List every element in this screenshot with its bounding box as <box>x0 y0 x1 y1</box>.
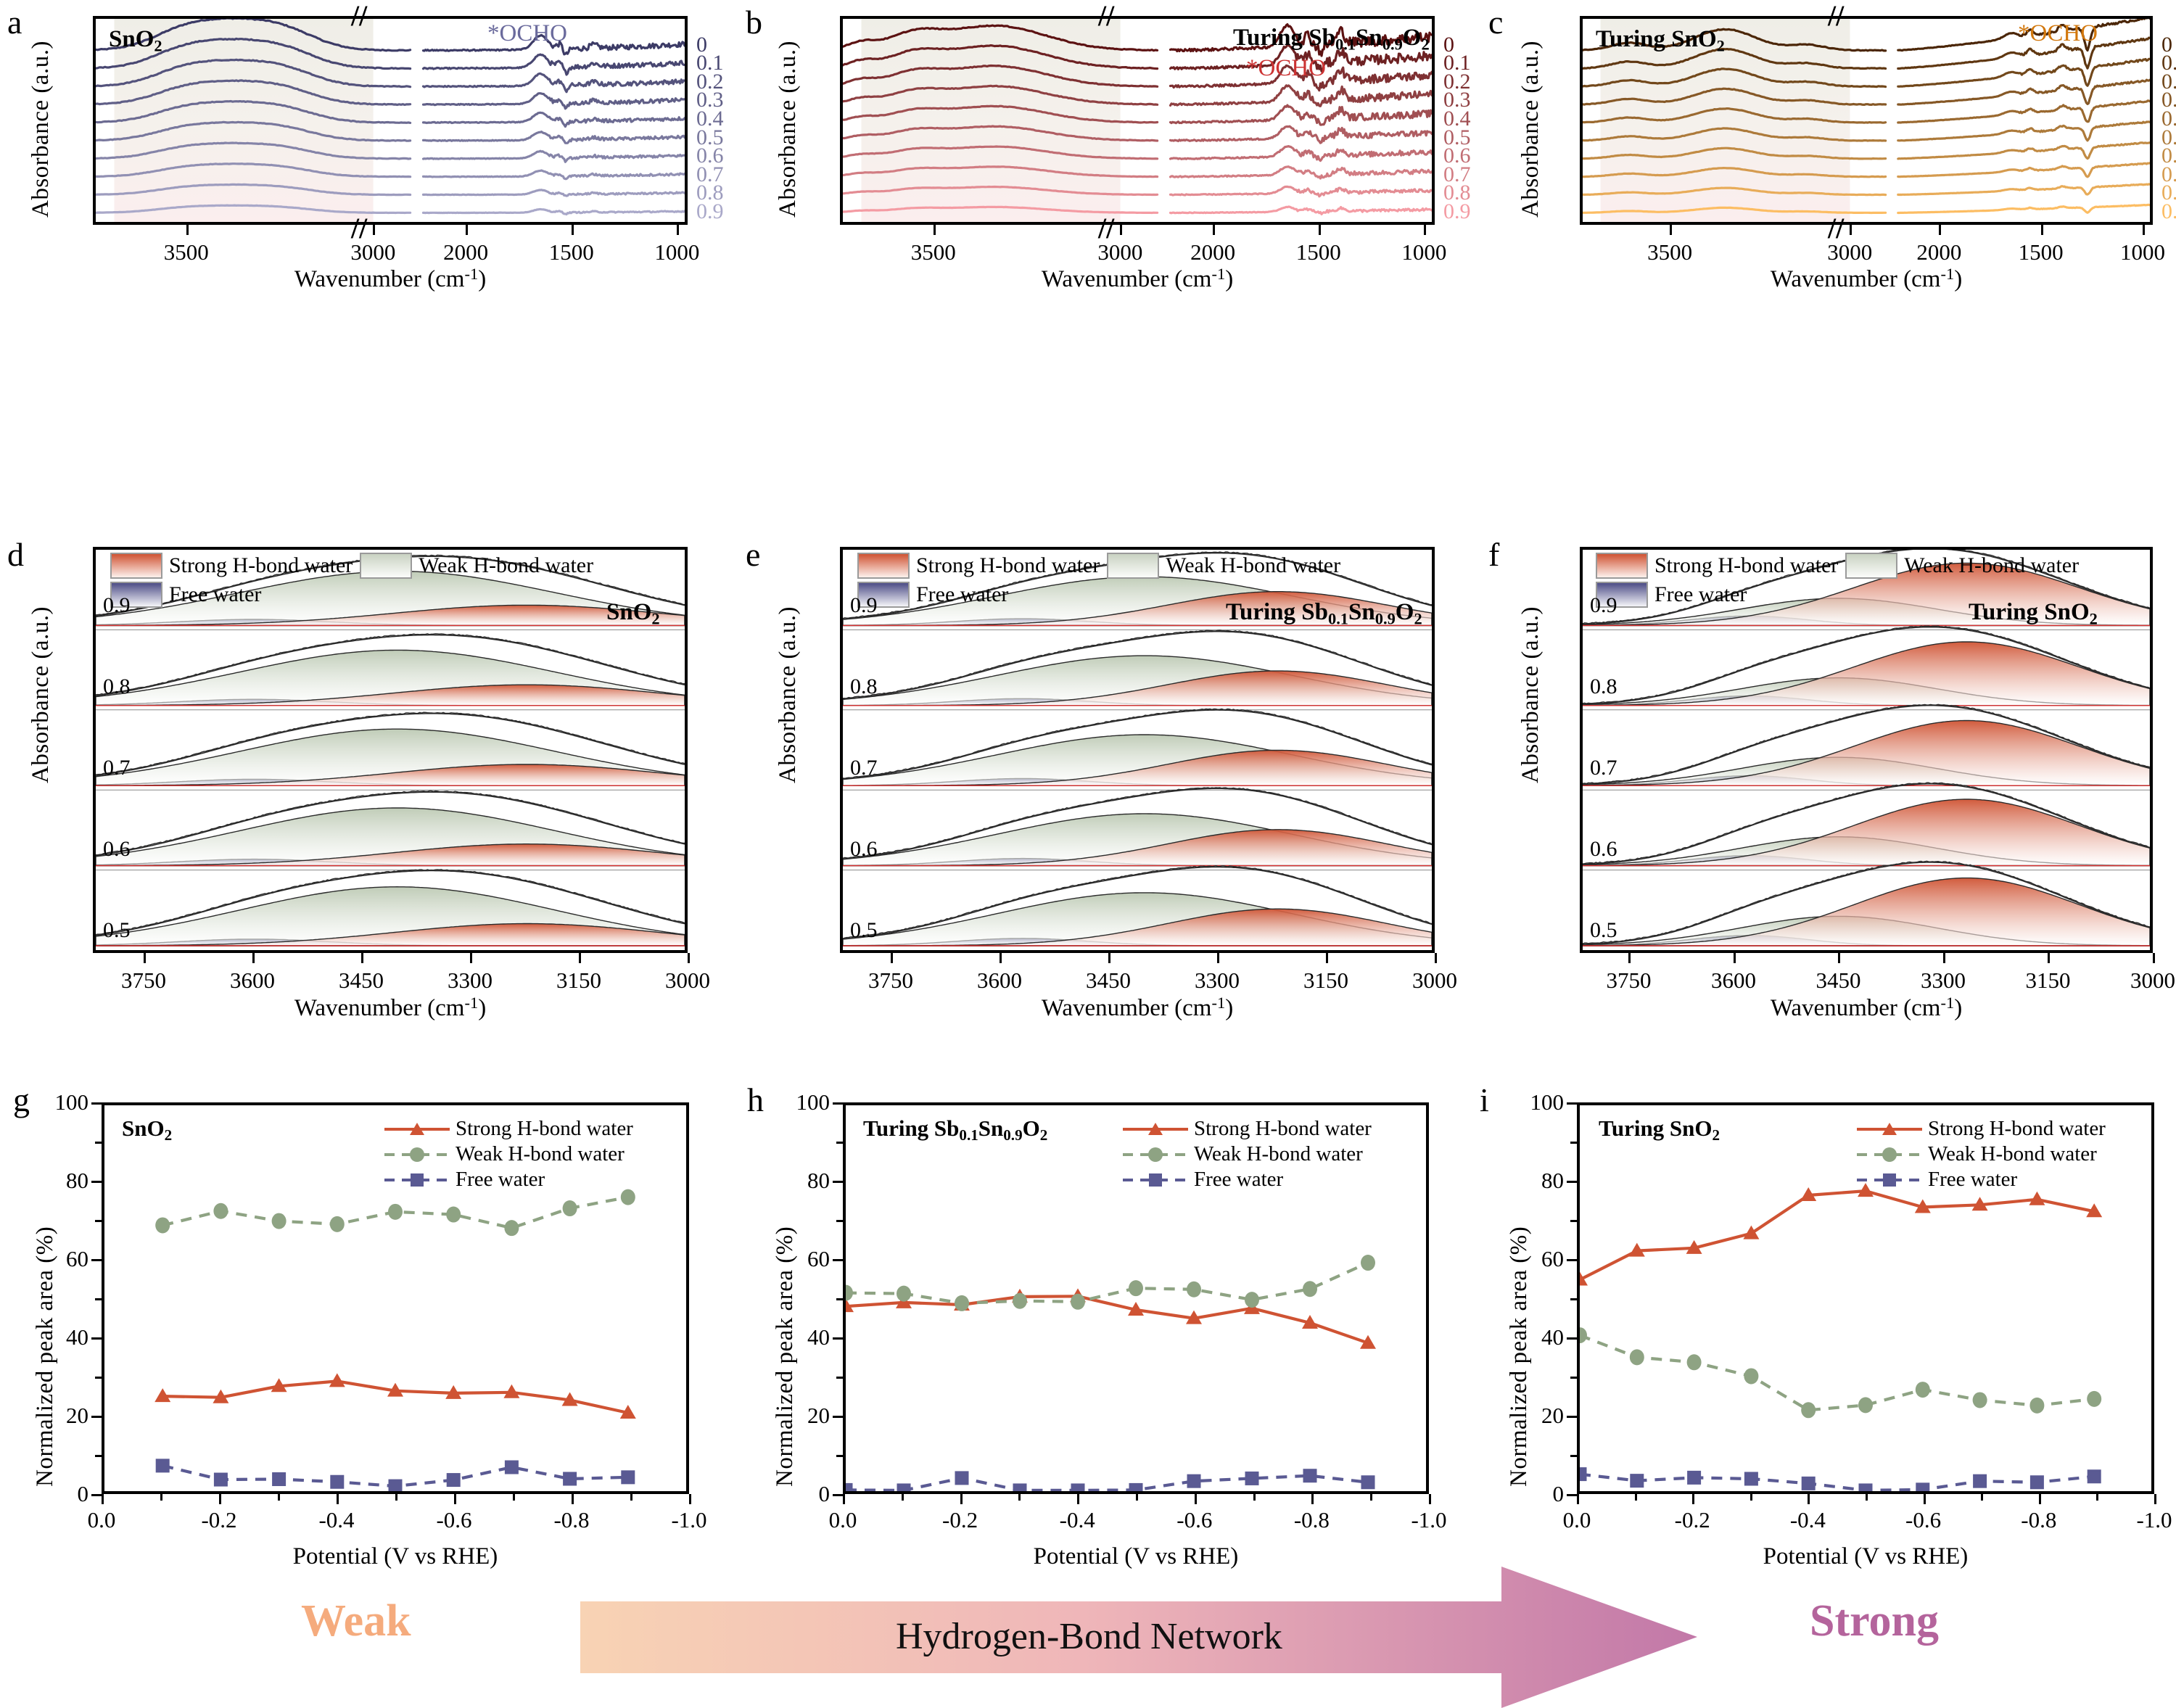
x-tick-mark <box>960 1494 963 1504</box>
x-minor-tick <box>160 1494 162 1501</box>
x-tick-mark <box>186 225 189 235</box>
y-minor-tick <box>95 1142 102 1144</box>
y-tick-mark <box>91 1416 102 1418</box>
stack-label: 0.8 <box>1590 674 1617 699</box>
y-tick-mark <box>1567 1337 1577 1340</box>
y-minor-tick <box>836 1455 843 1457</box>
legend-label-weak: Weak H-bond water <box>419 553 593 578</box>
legend-row-weak-h: Weak H-bond water <box>1123 1142 1372 1166</box>
x-tick-mark <box>1808 1494 1810 1504</box>
square-marker-icon <box>1880 1171 1899 1189</box>
panel-h-legend: Strong H-bond water Weak H-bond water Fr… <box>1123 1117 1372 1192</box>
y-tick-label: 0 <box>33 1481 88 1507</box>
panel-d-sample-title: SnO2 <box>606 599 660 628</box>
x-tick-label: 0.0 <box>88 1507 116 1533</box>
panel-b-sample-title: Turing Sb0.1Sn0.9O2 <box>1233 25 1430 54</box>
y-tick-label: 40 <box>775 1324 830 1350</box>
legend-row-strong-h: Strong H-bond water <box>1123 1117 1372 1141</box>
panel-g-legend: Strong H-bond water Weak H-bond water Fr… <box>384 1117 633 1192</box>
y-minor-tick <box>1570 1220 1577 1222</box>
x-tick-mark <box>891 953 893 963</box>
y-tick-label: 60 <box>1509 1246 1564 1272</box>
legend-row-free-h: Free water <box>1123 1168 1372 1192</box>
y-minor-tick <box>836 1298 843 1300</box>
x-tick-label: 3600 <box>230 968 275 994</box>
y-tick-label: 80 <box>775 1168 830 1194</box>
y-minor-tick <box>1570 1142 1577 1144</box>
y-minor-tick <box>836 1220 843 1222</box>
triangle-marker-icon <box>1146 1120 1165 1139</box>
legend-label-strong: Strong H-bond water <box>1928 1117 2106 1141</box>
panel-letter-g: g <box>13 1081 30 1119</box>
panel-f-sample-title: Turing SnO2 <box>1969 599 2098 628</box>
legend-label-free: Free water <box>916 582 1008 607</box>
y-tick-label: 40 <box>1509 1324 1564 1350</box>
panel-c-axis-break-bottom: // <box>1828 214 1844 243</box>
y-tick-mark <box>833 1494 843 1496</box>
figure-root: a Absorbance (a.u.) SnO2 *OCHO // // 350… <box>0 0 2176 1708</box>
x-tick-label: 3750 <box>868 968 913 994</box>
stack-label: 0.9 <box>103 593 131 618</box>
banner-center-label: Hydrogen-Bond Network <box>896 1615 1282 1658</box>
x-tick-mark <box>1429 1494 1431 1504</box>
x-tick-mark <box>572 1494 574 1504</box>
y-tick-label: 20 <box>775 1403 830 1429</box>
panel-f-xlabel: Wavenumber (cm-1) <box>1580 994 2153 1022</box>
legend-item-strong-e: Strong H-bond water <box>857 553 1100 579</box>
x-tick-label: -0.4 <box>318 1507 354 1533</box>
panel-letter-f: f <box>1488 535 1499 574</box>
x-tick-mark <box>337 1494 339 1504</box>
panel-letter-a: a <box>7 3 22 41</box>
weak-water-swatch <box>1107 553 1159 579</box>
legend-row-strong-g: Strong H-bond water <box>384 1117 633 1141</box>
stack-label: 0.7 <box>103 756 131 780</box>
x-tick-label: 3000 <box>350 239 395 265</box>
panel-e-sample-title: Turing Sb0.1Sn0.9O2 <box>1226 599 1422 628</box>
y-tick-mark <box>91 1337 102 1340</box>
x-tick-label: 0.0 <box>1563 1507 1591 1533</box>
x-tick-mark <box>102 1494 104 1504</box>
x-tick-mark <box>1311 1494 1314 1504</box>
x-tick-mark <box>1577 1494 1579 1504</box>
y-tick-label: 60 <box>33 1246 88 1272</box>
x-minor-tick <box>1253 1494 1256 1501</box>
x-minor-tick <box>1866 1494 1868 1501</box>
y-tick-mark <box>833 1102 843 1105</box>
legend-item-free-e: Free water <box>857 582 1008 608</box>
legend-label-weak: Weak H-bond water <box>456 1142 625 1166</box>
x-tick-label: 1000 <box>2120 239 2165 265</box>
panel-i-sample-title: Turing SnO2 <box>1599 1115 1720 1144</box>
x-tick-mark <box>1108 953 1110 963</box>
x-tick-label: -0.2 <box>1675 1507 1710 1533</box>
panel-letter-h: h <box>747 1081 764 1119</box>
x-tick-mark <box>1838 953 1840 963</box>
x-tick-label: -0.2 <box>942 1507 978 1533</box>
x-tick-label: 3300 <box>448 968 493 994</box>
panel-a-sample-title: SnO2 <box>109 26 162 55</box>
x-tick-label: 3500 <box>911 239 956 265</box>
x-minor-tick <box>278 1494 280 1501</box>
x-tick-mark <box>572 225 574 235</box>
panel-a-plot-area <box>93 16 688 225</box>
trace-label: 0.9 <box>1443 199 1471 224</box>
x-tick-mark <box>579 953 581 963</box>
x-tick-label: 3000 <box>1097 239 1142 265</box>
panel-e-ylabel: Absorbance (a.u.) <box>775 606 801 783</box>
x-tick-mark <box>466 225 468 235</box>
x-tick-label: 3600 <box>977 968 1022 994</box>
x-tick-mark <box>1213 225 1215 235</box>
panel-letter-i: i <box>1480 1081 1489 1119</box>
x-tick-label: 3500 <box>1647 239 1692 265</box>
x-minor-tick <box>1018 1494 1021 1501</box>
x-tick-label: -1.0 <box>1411 1507 1446 1533</box>
x-tick-mark <box>1628 953 1631 963</box>
panel-d-deconvolution <box>96 550 685 950</box>
x-tick-label: 3000 <box>665 968 710 994</box>
panel-letter-d: d <box>7 535 24 574</box>
y-minor-tick <box>95 1455 102 1457</box>
y-tick-label: 80 <box>1509 1168 1564 1194</box>
panel-c-xlabel: Wavenumber (cm-1) <box>1580 265 2153 293</box>
legend-row-free-g: Free water <box>384 1168 633 1192</box>
x-tick-label: 3300 <box>1921 968 1966 994</box>
panel-g-sample-title: SnO2 <box>122 1115 172 1144</box>
x-tick-label: -0.6 <box>436 1507 471 1533</box>
x-tick-label: -0.6 <box>1905 1507 1941 1533</box>
x-tick-label: 3150 <box>2025 968 2070 994</box>
panel-e-xlabel: Wavenumber (cm-1) <box>840 994 1435 1022</box>
x-tick-label: -0.8 <box>2021 1507 2056 1533</box>
x-tick-label: -1.0 <box>671 1507 706 1533</box>
panel-a-spectra <box>96 19 685 222</box>
stack-label: 0.6 <box>850 837 878 862</box>
y-tick-mark <box>833 1259 843 1261</box>
y-tick-label: 20 <box>33 1403 88 1429</box>
x-minor-tick <box>1136 1494 1138 1501</box>
square-marker-icon <box>1146 1171 1165 1189</box>
x-tick-label: 2000 <box>443 239 488 265</box>
x-tick-mark <box>1000 953 1002 963</box>
x-tick-label: 3750 <box>1606 968 1651 994</box>
panel-d-plot-area <box>93 547 688 953</box>
banner-weak-label: Weak <box>301 1596 411 1647</box>
panel-a-axis-break-top: // <box>351 1 367 30</box>
weak-water-swatch <box>1845 553 1897 579</box>
y-tick-mark <box>1567 1259 1577 1261</box>
x-tick-label: -0.8 <box>1294 1507 1330 1533</box>
panel-i-legend: Strong H-bond water Weak H-bond water Fr… <box>1857 1117 2106 1192</box>
x-minor-tick <box>1370 1494 1372 1501</box>
circle-marker-icon <box>408 1145 426 1164</box>
x-tick-mark <box>1850 225 1852 235</box>
y-minor-tick <box>1570 1298 1577 1300</box>
x-tick-mark <box>361 953 363 963</box>
x-tick-label: 1500 <box>549 239 594 265</box>
legend-label-free: Free water <box>456 1168 545 1192</box>
x-minor-tick <box>395 1494 397 1501</box>
stack-label: 0.5 <box>850 918 878 943</box>
x-tick-label: 3150 <box>1303 968 1348 994</box>
panel-c-axis-break-top: // <box>1828 1 1844 30</box>
legend-label-strong: Strong H-bond water <box>916 553 1100 578</box>
legend-label-weak: Weak H-bond water <box>1904 553 2079 578</box>
x-tick-mark <box>470 953 472 963</box>
y-minor-tick <box>95 1220 102 1222</box>
x-tick-mark <box>1195 1494 1197 1504</box>
x-minor-tick <box>1981 1494 1983 1501</box>
y-tick-mark <box>833 1181 843 1183</box>
x-tick-label: 3750 <box>121 968 166 994</box>
x-tick-mark <box>2154 1494 2156 1504</box>
legend-item-weak-f: Weak H-bond water <box>1845 553 2079 579</box>
panel-b-ylabel: Absorbance (a.u.) <box>775 41 801 218</box>
x-tick-label: -0.4 <box>1790 1507 1826 1533</box>
stack-label: 0.5 <box>1590 918 1617 943</box>
x-tick-mark <box>677 225 679 235</box>
triangle-marker-icon <box>1880 1120 1899 1139</box>
legend-row-weak-g: Weak H-bond water <box>384 1142 633 1166</box>
x-tick-mark <box>2153 953 2155 963</box>
legend-item-strong-d: Strong H-bond water <box>110 553 353 579</box>
y-tick-mark <box>1567 1181 1577 1183</box>
x-tick-mark <box>373 225 375 235</box>
banner-strong-label: Strong <box>1810 1596 1939 1647</box>
panel-b-axis-break-bottom: // <box>1098 214 1114 243</box>
y-tick-mark <box>1567 1416 1577 1418</box>
y-minor-tick <box>1570 1377 1577 1379</box>
x-tick-label: 3000 <box>2130 968 2175 994</box>
x-tick-label: 1500 <box>2019 239 2064 265</box>
legend-label-free: Free water <box>1194 1168 1283 1192</box>
panel-b-xlabel: Wavenumber (cm-1) <box>840 265 1435 293</box>
panel-letter-e: e <box>746 535 760 574</box>
y-minor-tick <box>836 1142 843 1144</box>
x-tick-mark <box>1734 953 1736 963</box>
x-tick-label: -0.6 <box>1176 1507 1212 1533</box>
y-tick-mark <box>1567 1102 1577 1105</box>
y-tick-label: 80 <box>33 1168 88 1194</box>
circle-marker-icon <box>1146 1145 1165 1164</box>
x-tick-mark <box>1692 1494 1694 1504</box>
x-tick-mark <box>689 1494 691 1504</box>
x-tick-label: -0.2 <box>201 1507 236 1533</box>
x-tick-mark <box>1120 225 1122 235</box>
trace-label: 0.9 <box>2161 199 2176 224</box>
y-tick-mark <box>833 1337 843 1340</box>
x-tick-mark <box>1943 953 1945 963</box>
trace-label: 0.9 <box>696 199 724 224</box>
panel-d-legend: Strong H-bond water Weak H-bond water Fr… <box>110 553 593 608</box>
x-tick-mark <box>1924 1494 1926 1504</box>
x-tick-label: 2000 <box>1916 239 1961 265</box>
y-tick-label: 40 <box>33 1324 88 1350</box>
x-tick-mark <box>1435 953 1437 963</box>
y-tick-mark <box>91 1259 102 1261</box>
panel-letter-b: b <box>746 3 762 41</box>
y-tick-mark <box>91 1494 102 1496</box>
y-tick-mark <box>91 1102 102 1105</box>
x-tick-label: -0.4 <box>1060 1507 1095 1533</box>
y-minor-tick <box>1570 1455 1577 1457</box>
legend-label-weak: Weak H-bond water <box>1928 1142 2097 1166</box>
x-tick-mark <box>1424 225 1426 235</box>
stack-label: 0.9 <box>850 593 878 618</box>
legend-item-free-d: Free water <box>110 582 261 608</box>
legend-label-strong: Strong H-bond water <box>456 1117 633 1141</box>
panel-d-ylabel: Absorbance (a.u.) <box>28 606 54 783</box>
x-tick-mark <box>1939 225 1941 235</box>
x-minor-tick <box>1635 1494 1637 1501</box>
x-tick-mark <box>2041 225 2043 235</box>
x-tick-label: 3500 <box>164 239 209 265</box>
strong-water-swatch <box>1596 553 1648 579</box>
x-tick-label: 3150 <box>556 968 601 994</box>
panel-b-ocho-annotation: *OCHO <box>1246 55 1326 82</box>
stack-label: 0.6 <box>103 837 131 862</box>
stack-label: 0.5 <box>103 918 131 943</box>
legend-label-strong: Strong H-bond water <box>169 553 353 578</box>
stack-label: 0.6 <box>1590 837 1617 862</box>
x-tick-mark <box>1670 225 1672 235</box>
y-tick-mark <box>91 1181 102 1183</box>
y-minor-tick <box>836 1377 843 1379</box>
x-tick-mark <box>252 953 255 963</box>
x-tick-mark <box>1326 953 1328 963</box>
y-minor-tick <box>95 1298 102 1300</box>
legend-label-free: Free water <box>1928 1168 2017 1192</box>
x-tick-label: 1000 <box>1401 239 1446 265</box>
x-tick-label: 3000 <box>1412 968 1457 994</box>
y-tick-label: 100 <box>1509 1089 1564 1115</box>
x-tick-label: 0.0 <box>829 1507 857 1533</box>
x-minor-tick <box>2096 1494 2098 1501</box>
x-tick-label: 1500 <box>1296 239 1341 265</box>
legend-item-strong-f: Strong H-bond water <box>1596 553 1838 579</box>
x-minor-tick <box>513 1494 515 1501</box>
x-tick-label: 3450 <box>1086 968 1131 994</box>
panel-a-ylabel: Absorbance (a.u.) <box>28 41 54 218</box>
stack-label: 0.9 <box>1590 593 1617 618</box>
panel-b-axis-break-top: // <box>1098 1 1114 30</box>
y-tick-label: 100 <box>33 1089 88 1115</box>
panel-d-xlabel: Wavenumber (cm-1) <box>93 994 688 1022</box>
square-marker-icon <box>408 1171 426 1189</box>
weak-water-swatch <box>360 553 412 579</box>
strong-water-swatch <box>857 553 910 579</box>
legend-row-strong-i: Strong H-bond water <box>1857 1117 2106 1141</box>
x-tick-mark <box>934 225 936 235</box>
stack-label: 0.7 <box>1590 756 1617 780</box>
panel-a-xlabel: Wavenumber (cm-1) <box>93 265 688 293</box>
y-tick-label: 0 <box>1509 1481 1564 1507</box>
panel-letter-c: c <box>1488 3 1503 41</box>
panel-a-ocho-annotation: *OCHO <box>487 20 567 47</box>
legend-label-weak: Weak H-bond water <box>1194 1142 1363 1166</box>
x-tick-label: -1.0 <box>2136 1507 2172 1533</box>
legend-item-weak-e: Weak H-bond water <box>1107 553 1340 579</box>
x-tick-mark <box>454 1494 456 1504</box>
y-tick-mark <box>833 1416 843 1418</box>
x-tick-mark <box>2048 953 2050 963</box>
circle-marker-icon <box>1880 1145 1899 1164</box>
legend-item-free-f: Free water <box>1596 582 1747 608</box>
legend-item-weak-d: Weak H-bond water <box>360 553 593 579</box>
x-tick-mark <box>144 953 146 963</box>
x-tick-mark <box>843 1494 845 1504</box>
x-tick-mark <box>2039 1494 2041 1504</box>
x-tick-label: 3450 <box>339 968 384 994</box>
x-tick-mark <box>1077 1494 1079 1504</box>
legend-label-weak: Weak H-bond water <box>1166 553 1340 578</box>
x-tick-label: 3000 <box>1827 239 1872 265</box>
x-tick-label: 1000 <box>654 239 699 265</box>
panel-h-sample-title: Turing Sb0.1Sn0.9O2 <box>863 1115 1047 1144</box>
x-tick-mark <box>219 1494 221 1504</box>
x-tick-mark <box>1319 225 1321 235</box>
y-minor-tick <box>95 1377 102 1379</box>
legend-row-weak-i: Weak H-bond water <box>1857 1142 2106 1166</box>
x-tick-mark <box>2143 225 2145 235</box>
x-tick-label: 3300 <box>1195 968 1240 994</box>
x-tick-label: -0.8 <box>553 1507 589 1533</box>
x-minor-tick <box>902 1494 904 1501</box>
x-minor-tick <box>1750 1494 1752 1501</box>
legend-label-free: Free water <box>169 582 261 607</box>
triangle-marker-icon <box>408 1120 426 1139</box>
y-tick-mark <box>1567 1494 1577 1496</box>
legend-label-strong: Strong H-bond water <box>1194 1117 1372 1141</box>
x-tick-mark <box>1217 953 1219 963</box>
legend-label-strong: Strong H-bond water <box>1654 553 1838 578</box>
x-tick-label: 2000 <box>1190 239 1235 265</box>
panel-f-ylabel: Absorbance (a.u.) <box>1517 606 1544 783</box>
panel-c-ocho-annotation: *OCHO <box>2018 20 2098 47</box>
y-tick-label: 100 <box>775 1089 830 1115</box>
x-minor-tick <box>630 1494 632 1501</box>
strong-water-swatch <box>110 553 162 579</box>
panel-a-axis-break-bottom: // <box>351 214 367 243</box>
y-tick-label: 0 <box>775 1481 830 1507</box>
stack-label: 0.8 <box>850 674 878 699</box>
x-tick-label: 3600 <box>1711 968 1756 994</box>
panel-c-ylabel: Absorbance (a.u.) <box>1517 41 1544 218</box>
x-tick-label: 3450 <box>1816 968 1860 994</box>
legend-label-free: Free water <box>1654 582 1747 607</box>
y-tick-label: 60 <box>775 1246 830 1272</box>
panel-c-sample-title: Turing SnO2 <box>1596 26 1725 55</box>
legend-row-free-i: Free water <box>1857 1168 2106 1192</box>
stack-label: 0.7 <box>850 756 878 780</box>
x-tick-mark <box>688 953 690 963</box>
y-tick-label: 20 <box>1509 1403 1564 1429</box>
stack-label: 0.8 <box>103 674 131 699</box>
